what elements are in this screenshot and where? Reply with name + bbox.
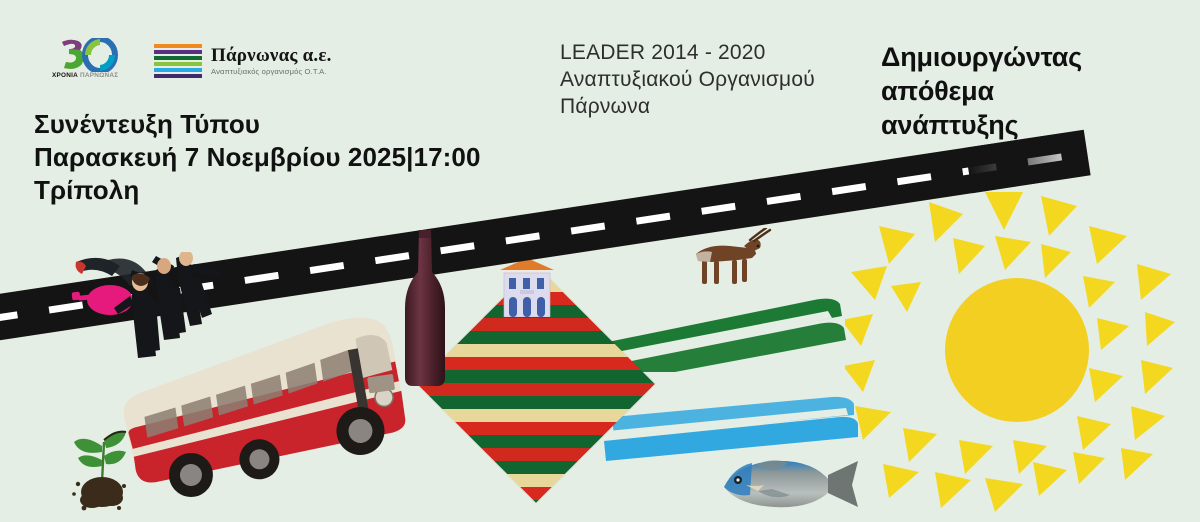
- sun-icon: [845, 190, 1195, 520]
- program-org-line2: Πάρνωνα: [560, 94, 815, 121]
- neoclassical-house-icon: [496, 255, 558, 317]
- sea-bream-fish-icon: [716, 455, 862, 513]
- dancers-icon: [60, 252, 250, 362]
- anniversary-tagline: ΧΡΟΝΙΑ ΠΑΡΝΩΝΑΣ: [52, 72, 118, 79]
- event-location: Τρίπολη: [34, 174, 481, 207]
- green-brush-strokes: [596, 282, 856, 372]
- anniversary-tagline-bold: ΧΡΟΝΙΑ: [52, 72, 78, 79]
- parnonas-name: Πάρνωνας α.ε.: [211, 46, 332, 65]
- parnonas-logo-bars: [154, 44, 202, 78]
- event-details: Συνέντευξη Τύπου Παρασκευή 7 Νοεμβρίου 2…: [34, 108, 481, 207]
- event-title: Συνέντευξη Τύπου: [34, 108, 481, 141]
- logo-row: ΧΡΟΝΙΑ ΠΑΡΝΩΝΑΣ Πάρνωνας α.ε. Αναπτυξιακ…: [52, 38, 332, 84]
- slogan-line-1: Δημιουργώντας: [881, 41, 1082, 75]
- slogan: Δημιουργώντας απόθεμα ανάπτυξης: [881, 41, 1082, 142]
- parnonas-subtitle: Αναπτυξιακός οργανισμός Ο.Τ.Α.: [211, 68, 332, 76]
- anniversary-logo: ΧΡΟΝΙΑ ΠΑΡΝΩΝΑΣ: [52, 38, 126, 84]
- slogan-line-2: απόθεμα: [881, 75, 1082, 109]
- program-info: LEADER 2014 - 2020 Αναπτυξιακού Οργανισμ…: [560, 40, 815, 121]
- parnonas-logo: Πάρνωνας α.ε. Αναπτυξιακός οργανισμός Ο.…: [154, 44, 332, 78]
- parnonas-logo-text: Πάρνωνας α.ε. Αναπτυξιακός οργανισμός Ο.…: [211, 46, 332, 76]
- program-name: LEADER 2014 - 2020: [560, 40, 815, 67]
- event-datetime: Παρασκευή 7 Νοεμβρίου 2025|17:00: [34, 141, 481, 174]
- goat-icon: [678, 228, 774, 292]
- banner-canvas: ΧΡΟΝΙΑ ΠΑΡΝΩΝΑΣ Πάρνωνας α.ε. Αναπτυξιακ…: [0, 0, 1200, 522]
- slogan-line-3: ανάπτυξης: [881, 109, 1082, 143]
- wine-bottle-icon: [404, 228, 446, 388]
- seedling-with-soil-icon: [64, 428, 138, 512]
- anniversary-tagline-light: ΠΑΡΝΩΝΑΣ: [80, 72, 118, 79]
- program-org-line1: Αναπτυξιακού Οργανισμού: [560, 67, 815, 94]
